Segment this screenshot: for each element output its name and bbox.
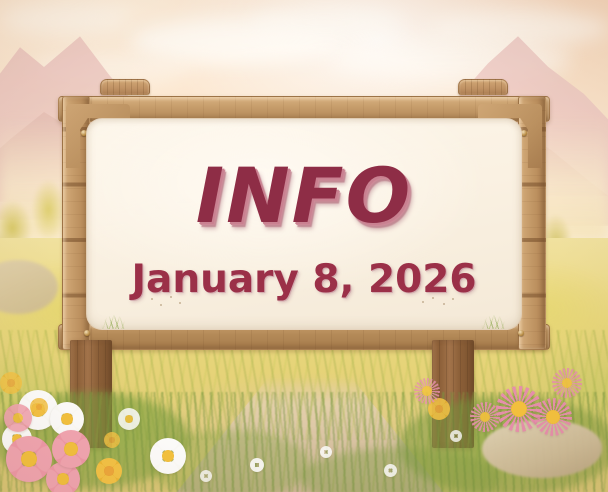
flower-center bbox=[104, 466, 113, 475]
aster-flower bbox=[470, 402, 500, 432]
screw-icon bbox=[84, 330, 90, 336]
daisy-flower bbox=[150, 438, 186, 474]
aster-flower bbox=[552, 368, 582, 398]
petals bbox=[384, 464, 397, 477]
petals bbox=[450, 430, 462, 442]
aster-flower bbox=[534, 398, 572, 436]
grass-sprig bbox=[477, 307, 511, 329]
screw-icon bbox=[518, 330, 524, 336]
small-white-flower bbox=[320, 446, 332, 458]
petals bbox=[250, 458, 264, 472]
wooden-signboard[interactable]: INFO January 8, 2026 bbox=[58, 88, 550, 356]
flower-center bbox=[13, 413, 23, 423]
daisy-flower bbox=[118, 408, 140, 430]
yellow-flower bbox=[0, 372, 22, 394]
cloud bbox=[0, 4, 130, 34]
small-white-flower bbox=[250, 458, 264, 472]
flower-center bbox=[546, 410, 560, 424]
flower-center bbox=[109, 437, 115, 443]
flower-center bbox=[64, 442, 78, 456]
flower-center bbox=[7, 379, 15, 387]
yellow-flower bbox=[30, 398, 48, 416]
grass-sprig bbox=[97, 307, 131, 329]
small-white-flower bbox=[200, 470, 212, 482]
flower-center bbox=[435, 405, 443, 413]
sign-board-panel: INFO January 8, 2026 bbox=[86, 118, 522, 330]
wooden-tab-icon bbox=[100, 79, 150, 95]
pink-daisy-flower bbox=[4, 404, 32, 432]
wooden-tab-icon bbox=[458, 79, 508, 95]
flower-center bbox=[125, 415, 133, 423]
cloud bbox=[250, 6, 400, 40]
sign-title: INFO bbox=[196, 158, 412, 234]
pink-daisy-flower bbox=[52, 430, 90, 468]
petals bbox=[320, 446, 332, 458]
flower-center bbox=[422, 386, 431, 395]
signboard-scene: INFO January 8, 2026 bbox=[0, 0, 608, 492]
petals bbox=[200, 470, 212, 482]
aster-flower bbox=[414, 378, 440, 404]
yellow-flower bbox=[96, 458, 122, 484]
small-white-flower bbox=[450, 430, 462, 442]
sign-date: January 8, 2026 bbox=[132, 260, 477, 299]
yellow-flower bbox=[104, 432, 120, 448]
small-white-flower bbox=[384, 464, 397, 477]
